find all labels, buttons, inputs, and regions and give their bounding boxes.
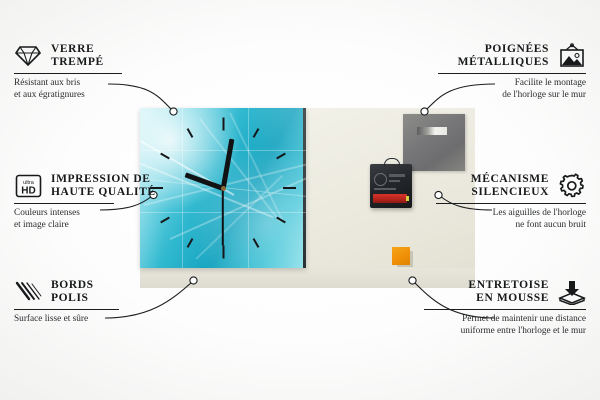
callout-rule <box>14 203 114 204</box>
clock-tick <box>222 246 224 259</box>
callout-title: POIGNÉES MÉTALLIQUES <box>458 43 549 69</box>
callout-title: BORDS POLIS <box>51 279 94 305</box>
callout-header: POIGNÉES MÉTALLIQUES <box>386 42 586 70</box>
callout-header: ENTRETOISE EN MOUSSE <box>371 278 586 306</box>
gear-icon <box>558 172 586 200</box>
callout-header: ultra HD IMPRESSION DE HAUTE QUALITÉ <box>14 172 214 200</box>
callout-entretoise-en-mousse: ENTRETOISE EN MOUSSE Permet de maintenir… <box>371 278 586 337</box>
down-arrow-on-pad-icon <box>558 278 586 306</box>
metal-handle-plate <box>403 114 465 171</box>
callout-title: MÉCANISME SILENCIEUX <box>471 173 549 199</box>
second-hand <box>222 188 224 246</box>
callout-header: BORDS POLIS <box>14 278 214 306</box>
handle-slot <box>417 127 447 135</box>
svg-text:HD: HD <box>21 186 35 197</box>
clock-tick <box>283 187 296 189</box>
callout-subtitle: Résistant aux bris et aux égratignures <box>14 78 214 101</box>
diamond-gem-icon <box>14 42 42 70</box>
callout-impression-haute-qualite: ultra HD IMPRESSION DE HAUTE QUALITÉ Cou… <box>14 172 214 231</box>
callout-title: VERRE TREMPÉ <box>51 43 104 69</box>
callout-verre-trempe: VERRE TREMPÉ Résistant aux bris et aux é… <box>14 42 214 101</box>
infographic-canvas: VERRE TREMPÉ Résistant aux bris et aux é… <box>0 0 600 400</box>
callout-subtitle: Couleurs intenses et image claire <box>14 208 214 231</box>
callout-header: VERRE TREMPÉ <box>14 42 214 70</box>
foam-spacer <box>392 247 410 265</box>
callout-rule <box>424 309 586 310</box>
clock-tick <box>222 118 224 131</box>
polished-edge-lines-icon <box>14 278 42 306</box>
hanging-picture-frame-icon <box>558 42 586 70</box>
callout-rule <box>14 309 119 310</box>
callout-rule <box>14 73 122 74</box>
mechanism-hook <box>384 158 400 167</box>
callout-title: IMPRESSION DE HAUTE QUALITÉ <box>51 173 156 199</box>
callout-subtitle: Facilite le montage de l'horloge sur le … <box>386 78 586 101</box>
callout-rule <box>438 73 586 74</box>
callout-header: MÉCANISME SILENCIEUX <box>386 172 586 200</box>
callout-subtitle: Surface lisse et sûre <box>14 314 214 326</box>
callout-poignees-metalliques: POIGNÉES MÉTALLIQUES Facilite le montage… <box>386 42 586 101</box>
glass-seam <box>248 108 249 268</box>
callout-subtitle: Permet de maintenir une distance uniform… <box>371 314 586 337</box>
callout-bords-polis: BORDS POLIS Surface lisse et sûre <box>14 278 214 326</box>
callout-mecanisme-silencieux: MÉCANISME SILENCIEUX Les aiguilles de l'… <box>386 172 586 231</box>
ultra-hd-badge-icon: ultra HD <box>14 172 42 200</box>
callout-title: ENTRETOISE EN MOUSSE <box>468 279 549 305</box>
callout-subtitle: Les aiguilles de l'horloge ne font aucun… <box>386 208 586 231</box>
callout-rule <box>436 203 586 204</box>
clock-center-cap <box>221 186 226 191</box>
glass-seam <box>140 150 306 151</box>
